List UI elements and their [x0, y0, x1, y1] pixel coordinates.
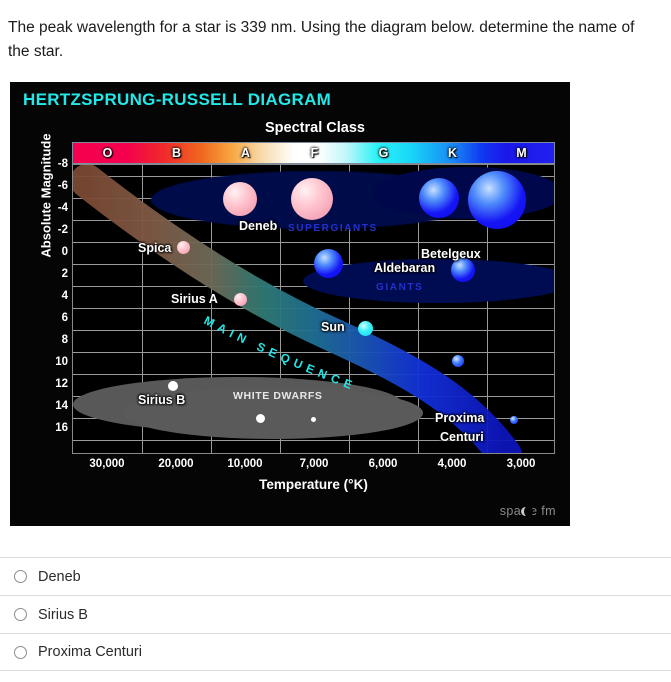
star-blue-giant — [314, 249, 343, 278]
question-text: The peak wavelength for a star is 339 nm… — [8, 16, 658, 64]
x-axis-ticks: 30,000 20,000 10,000 7,000 6,000 4,000 3… — [72, 458, 555, 476]
watermark-text-pre: spa — [500, 504, 521, 518]
spectral-class-F: F — [280, 144, 349, 163]
y-tick--8: -8 — [28, 158, 68, 170]
hr-diagram-panel: HERTZSPRUNG-RUSSELL DIAGRAM Spectral Cla… — [10, 82, 570, 526]
spectral-class-bar: O B A F G K M — [72, 142, 555, 164]
x-tick-30000: 30,000 — [67, 458, 147, 470]
label-deneb: Deneb — [239, 219, 277, 233]
radio-button-icon[interactable] — [14, 570, 27, 583]
y-tick-2: 2 — [28, 268, 68, 280]
y-tick-4: 4 — [28, 290, 68, 302]
spectral-class-B: B — [142, 144, 211, 163]
x-tick-3000: 3,000 — [481, 458, 561, 470]
star-sirius-a — [234, 293, 247, 306]
label-supergiants: SUPERGIANTS — [288, 223, 378, 234]
label-giants: GIANTS — [376, 282, 423, 293]
y-tick-8: 8 — [28, 334, 68, 346]
y-tick-0: 0 — [28, 246, 68, 258]
answer-option-label: Proxima Centuri — [38, 644, 142, 660]
label-proxima-line1: Proxima — [435, 411, 484, 425]
x-tick-20000: 20,000 — [136, 458, 216, 470]
star-deneb — [291, 178, 333, 220]
star-spica — [177, 241, 190, 254]
diagram-title: HERTZSPRUNG-RUSSELL DIAGRAM — [23, 90, 331, 110]
star-sirius-b — [168, 381, 178, 391]
y-tick--2: -2 — [28, 224, 68, 236]
star-unnamed-pink-supergiant — [223, 182, 257, 216]
answer-option-sirius-b[interactable]: Sirius B — [0, 595, 671, 633]
y-tick-10: 10 — [28, 356, 68, 368]
y-tick-12: 12 — [28, 378, 68, 390]
label-sirius-b: Sirius B — [138, 393, 185, 407]
y-tick--6: -6 — [28, 180, 68, 192]
y-tick-6: 6 — [28, 312, 68, 324]
x-tick-7000: 7,000 — [274, 458, 354, 470]
radio-button-icon[interactable] — [14, 646, 27, 659]
radio-button-icon[interactable] — [14, 608, 27, 621]
label-aldebaran: Aldebaran — [374, 261, 435, 275]
star-main-sequence-red-dwarf — [452, 355, 464, 367]
spectral-class-axis-title: Spectral Class — [10, 120, 570, 136]
star-white-dwarf-3 — [311, 417, 316, 422]
star-aldebaran — [451, 258, 475, 282]
label-betelgeux: Betelgeux — [421, 247, 481, 261]
plot-area: MAIN SEQUENCE Deneb SUPERGIANTS Spica Be… — [72, 164, 555, 454]
answer-option-label: Sirius B — [38, 607, 88, 623]
spectral-class-K: K — [418, 144, 487, 163]
crescent-moon-icon — [521, 507, 530, 516]
spectral-class-G: G — [349, 144, 418, 163]
y-tick--4: -4 — [28, 202, 68, 214]
star-white-dwarf-2 — [256, 414, 265, 423]
label-spica: Spica — [138, 241, 171, 255]
star-sun — [358, 321, 373, 336]
spectral-class-A: A — [211, 144, 280, 163]
star-betelgeux — [468, 171, 526, 229]
page-root: The peak wavelength for a star is 339 nm… — [0, 0, 671, 682]
spectral-class-M: M — [487, 144, 556, 163]
label-proxima-line2: Centuri — [440, 430, 484, 444]
star-blue-supergiant — [419, 178, 459, 218]
y-tick-14: 14 — [28, 400, 68, 412]
y-axis-ticks: -8 -6 -4 -2 0 2 4 6 8 10 12 14 16 — [10, 164, 68, 454]
x-tick-4000: 4,000 — [412, 458, 492, 470]
x-tick-6000: 6,000 — [343, 458, 423, 470]
x-axis-title: Temperature (°K) — [72, 477, 555, 492]
answer-option-deneb[interactable]: Deneb — [0, 557, 671, 595]
watermark-text-post: e fm — [530, 504, 556, 518]
label-sirius-a: Sirius A — [171, 292, 218, 306]
answer-option-proxima-centuri[interactable]: Proxima Centuri — [0, 633, 671, 671]
star-proxima-centuri — [510, 416, 518, 424]
spacefm-watermark: spae fm — [500, 504, 556, 518]
answer-option-label: Deneb — [38, 569, 81, 585]
label-sun: Sun — [321, 320, 345, 334]
spectral-class-O: O — [73, 144, 142, 163]
x-tick-10000: 10,000 — [205, 458, 285, 470]
answer-options-list: Deneb Sirius B Proxima Centuri — [0, 557, 671, 671]
label-white-dwarfs: WHITE DWARFS — [233, 390, 322, 402]
y-tick-16: 16 — [28, 422, 68, 434]
